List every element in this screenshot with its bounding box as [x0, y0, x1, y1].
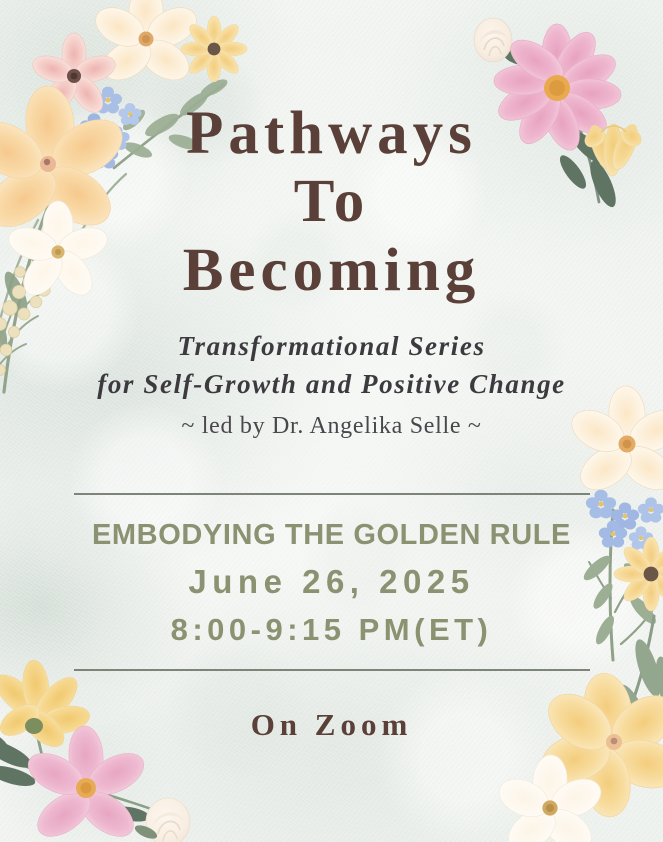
- event-details: EMBODYING THE GOLDEN RULE June 26, 2025 …: [92, 519, 571, 648]
- title-line-1: Pathways: [183, 104, 481, 164]
- event-flyer: Pathways To Becoming Transformational Se…: [0, 0, 663, 842]
- divider-top: [74, 493, 590, 495]
- event-time: 8:00-9:15 PM(ET): [92, 612, 571, 648]
- event-topic: EMBODYING THE GOLDEN RULE: [92, 519, 571, 552]
- event-venue: On Zoom: [251, 707, 413, 743]
- page-title: Pathways To Becoming: [183, 104, 481, 301]
- presenter-credit: ~ led by Dr. Angelika Selle ~: [97, 413, 566, 440]
- subtitle-line-1: Transformational Series: [97, 327, 566, 365]
- subtitle: Transformational Series for Self-Growth …: [97, 327, 566, 440]
- event-date: June 26, 2025: [92, 563, 571, 601]
- title-line-2: To: [183, 172, 481, 232]
- title-line-3: Becoming: [183, 241, 481, 301]
- subtitle-line-2: for Self-Growth and Positive Change: [97, 365, 566, 403]
- flyer-content: Pathways To Becoming Transformational Se…: [0, 0, 663, 842]
- divider-bottom: [74, 669, 590, 671]
